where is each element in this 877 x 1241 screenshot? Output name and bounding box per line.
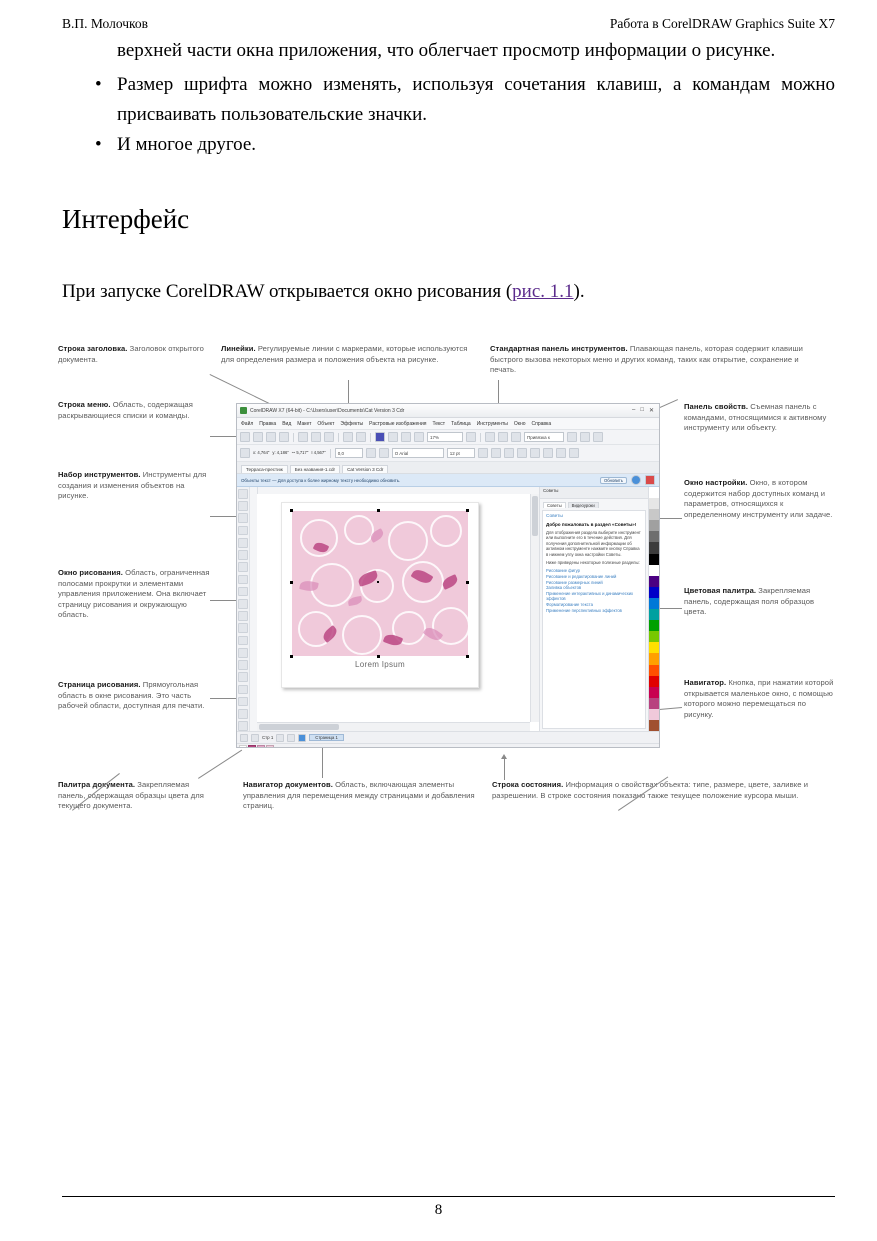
color-swatch[interactable] [649, 698, 659, 709]
docker-panel-title: Советы [546, 514, 642, 519]
document-color-swatch[interactable] [239, 745, 247, 749]
document-navigator: Стр 1 Страница 1 [237, 731, 659, 743]
annotation-title: Навигатор документов. [243, 780, 333, 789]
selection-handle[interactable] [466, 655, 469, 658]
snap-to-button[interactable]: Привязка к [524, 432, 564, 442]
text-properties-icon[interactable] [569, 448, 579, 458]
color-swatch[interactable] [649, 598, 659, 609]
show-guides-icon[interactable] [511, 432, 521, 442]
selection-handle[interactable] [290, 581, 293, 584]
color-swatch[interactable] [649, 554, 659, 565]
list-item-label: И многое другое. [117, 130, 835, 160]
maximize-icon[interactable]: □ [640, 407, 644, 414]
menu-item-view[interactable]: Вид [282, 421, 291, 427]
annotation-title: Палитра документа. [58, 780, 135, 789]
underline-icon[interactable] [504, 448, 514, 458]
body-column: верхней части окна приложения, что облег… [62, 36, 835, 307]
bold-icon[interactable] [478, 448, 488, 458]
add-page-icon[interactable] [298, 734, 306, 742]
bullet-list: • Размер шрифта можно изменять, использу… [62, 70, 835, 160]
annotation-document-navigator: Навигатор документов. Область, включающа… [243, 780, 475, 812]
undo-icon[interactable] [343, 432, 353, 442]
previous-page-icon[interactable] [251, 734, 259, 742]
crop-tool-icon[interactable] [238, 513, 248, 523]
docker-window: Советы Советы Видеоуроки Советы Добро по… [539, 487, 648, 731]
running-header: В.П. Молочков Работа в CorelDRAW Graphic… [62, 16, 835, 32]
color-palette[interactable] [648, 487, 659, 731]
selection-handle[interactable] [290, 509, 293, 512]
toolbar-separator [370, 433, 371, 442]
leader-line-status-bar [504, 758, 505, 780]
docker-heading: Добро пожаловать в раздел «Советы»! [546, 522, 642, 528]
connector-tool-icon[interactable] [238, 636, 248, 646]
align-justify-icon[interactable] [556, 448, 566, 458]
annotation-title: Панель свойств. [684, 402, 748, 411]
first-page-icon[interactable] [240, 734, 248, 742]
leader-line-document-palette [198, 750, 242, 779]
pick-tool-icon[interactable] [238, 489, 248, 499]
header-title: Работа в CorelDRAW Graphics Suite X7 [610, 16, 835, 32]
fill-tool-icon[interactable] [238, 721, 248, 731]
color-swatch[interactable] [649, 676, 659, 687]
menu-item-table[interactable]: Таблица [451, 421, 471, 427]
color-eyedropper-tool-icon[interactable] [238, 672, 248, 682]
figure-1-1: Строка заголовка. Заголовок открытого до… [58, 340, 838, 840]
list-item: • И многое другое. [117, 130, 835, 160]
annotation-color-palette: Цветовая палитра. Закрепляемая панель, с… [684, 586, 836, 618]
app-menu-bar: Файл Правка Вид Макет Объект Эффекты Рас… [237, 418, 659, 430]
object-position-x[interactable]: x: 4,764" [253, 450, 269, 455]
color-swatch[interactable] [649, 642, 659, 653]
page-number: 8 [0, 1202, 877, 1219]
object-height[interactable]: Ⅰ 4,567" [311, 450, 325, 455]
bullet-marker: • [95, 130, 102, 160]
intro-text-after: ). [574, 281, 585, 302]
header-author: В.П. Молочков [62, 16, 148, 32]
font-name-combo[interactable]: O Arial [392, 448, 444, 458]
polygon-tool-icon[interactable] [238, 587, 248, 597]
annotation-status-bar: Строка состояния. Информация о свойствах… [492, 780, 810, 801]
menu-item-layout[interactable]: Макет [297, 421, 311, 427]
bullet-marker: • [95, 70, 102, 100]
document-tab-bar: Терраса-престиж Без названия-1.cdr Cat V… [237, 462, 659, 474]
annotation-menu-bar: Строка меню. Область, содержащая раскрыв… [58, 400, 213, 421]
menu-item-file[interactable]: Файл [241, 421, 253, 427]
zoom-level-combo[interactable]: 17% [427, 432, 463, 442]
mirror-vertical-icon[interactable] [379, 448, 389, 458]
document-palette[interactable] [237, 743, 659, 748]
annotation-drawing-page: Страница рисования. Прямоугольная област… [58, 680, 210, 712]
annotation-title-bar: Строка заголовка. Заголовок открытого до… [58, 344, 208, 365]
toolbar-separator [480, 433, 481, 442]
list-item-label: Размер шрифта можно изменять, используя … [117, 70, 835, 130]
annotation-drawing-window: Окно рисования. Область, ограниченная по… [58, 568, 210, 621]
annotation-title: Линейки. [221, 344, 256, 353]
text-tool-icon[interactable] [238, 599, 248, 609]
canvas-area[interactable]: Lorem Ipsum [257, 494, 530, 722]
close-hint-icon[interactable] [645, 475, 655, 485]
align-left-icon[interactable] [517, 448, 527, 458]
annotation-rulers: Линейки. Регулируемые линии с маркерами,… [221, 344, 471, 365]
color-swatch[interactable] [649, 509, 659, 520]
continued-paragraph: верхней части окна приложения, что облег… [117, 36, 835, 66]
document-tab[interactable]: Без названия-1.cdr [290, 465, 340, 473]
export-icon[interactable] [388, 432, 398, 442]
info-icon[interactable] [631, 475, 641, 485]
annotation-title: Строка состояния. [492, 780, 563, 789]
coreldraw-logo-icon [240, 407, 247, 414]
toolbox [237, 487, 250, 731]
freehand-tool-icon[interactable] [238, 538, 248, 548]
standard-toolbar: 17% Привязка к [237, 430, 659, 445]
selection-handle[interactable] [377, 655, 380, 658]
open-icon[interactable] [253, 432, 263, 442]
color-swatch[interactable] [649, 720, 659, 731]
color-swatch[interactable] [649, 542, 659, 553]
annotation-navigator: Навигатор. Кнопка, при нажатии которой о… [684, 678, 834, 720]
import-icon[interactable] [375, 432, 385, 442]
launch-icon[interactable] [414, 432, 424, 442]
menu-item-object[interactable]: Объект [317, 421, 334, 427]
rotation-angle-input[interactable]: 0,0 [335, 448, 363, 458]
align-right-icon[interactable] [543, 448, 553, 458]
dimension-tool-icon[interactable] [238, 623, 248, 633]
ellipse-tool-icon[interactable] [238, 575, 248, 585]
annotation-text: Регулируемые линии с маркерами, которые … [221, 344, 467, 364]
zoom-tool-icon[interactable] [238, 526, 248, 536]
rectangle-tool-icon[interactable] [238, 562, 248, 572]
selection-handle[interactable] [466, 581, 469, 584]
copy-icon[interactable] [311, 432, 321, 442]
hint-text: Объекты текст — Для доступа к более жирн… [241, 478, 400, 483]
color-swatch[interactable] [649, 609, 659, 620]
menu-item-window[interactable]: Окно [514, 421, 526, 427]
document-color-swatch[interactable] [257, 745, 265, 749]
menu-item-tools[interactable]: Инструменты [477, 421, 508, 427]
cut-icon[interactable] [298, 432, 308, 442]
menu-item-bitmaps[interactable]: Растровые изображения [369, 421, 426, 427]
document-tab[interactable]: Cat Version 3 Cdr [342, 465, 388, 473]
color-swatch[interactable] [649, 709, 659, 720]
menu-item-text[interactable]: Текст [433, 421, 446, 427]
smart-fill-tool-icon[interactable] [238, 697, 248, 707]
interactive-fill-tool-icon[interactable] [238, 685, 248, 695]
artwork-caption-text[interactable]: Lorem Ipsum [282, 660, 478, 669]
color-swatch[interactable] [649, 576, 659, 587]
annotation-toolbox: Набор инструментов. Инструменты для созд… [58, 470, 210, 502]
show-grid-icon[interactable] [498, 432, 508, 442]
color-swatch[interactable] [649, 665, 659, 676]
docker-title: Советы [540, 487, 648, 499]
color-swatch[interactable] [649, 520, 659, 531]
annotation-title: Цветовая палитра. [684, 586, 756, 595]
docker-tab-video-tutorials[interactable]: Видеоуроки [568, 502, 599, 508]
artistic-media-tool-icon[interactable] [238, 550, 248, 560]
annotation-title: Навигатор. [684, 678, 726, 687]
italic-icon[interactable] [491, 448, 501, 458]
color-swatch[interactable] [649, 631, 659, 642]
redo-icon[interactable] [356, 432, 366, 442]
close-icon[interactable]: ✕ [649, 407, 654, 414]
docker-content[interactable]: Советы Добро пожаловать в раздел «Советы… [542, 510, 646, 729]
annotation-docker-window: Окно настройки. Окно, в котором содержит… [684, 478, 836, 520]
publish-pdf-icon[interactable] [401, 432, 411, 442]
docker-link[interactable]: Применение перспективных эффектов [546, 608, 642, 614]
arrow-status-bar [501, 754, 507, 759]
selection-center-marker [377, 581, 379, 583]
figure-reference-link[interactable]: рис. 1.1 [512, 281, 573, 302]
annotation-standard-toolbar: Стандартная панель инструментов. Плавающ… [490, 344, 810, 376]
artwork-floral-pattern[interactable] [292, 511, 468, 656]
color-swatch[interactable] [649, 565, 659, 576]
work-area: Lorem Ipsum [237, 487, 659, 731]
toolbar-separator [338, 433, 339, 442]
blend-tool-icon[interactable] [238, 648, 248, 658]
outline-tool-icon[interactable] [238, 709, 248, 719]
zoom-levels-dropdown-icon[interactable] [466, 432, 476, 442]
application-launcher-icon[interactable] [580, 432, 590, 442]
print-icon[interactable] [279, 432, 289, 442]
save-icon[interactable] [266, 432, 276, 442]
annotation-title: Строка заголовка. [58, 344, 127, 353]
window-controls: – □ ✕ [632, 407, 656, 414]
color-swatch[interactable] [649, 687, 659, 698]
docker-paragraph-2: Ниже приведены некоторые полезные раздел… [546, 560, 642, 565]
vertical-scrollbar-thumb[interactable] [532, 496, 538, 536]
app-title-text: CorelDRAW X7 (64-bit) - C:\Users\user\Do… [250, 408, 632, 414]
page-indicator: Стр 1 [262, 735, 273, 740]
coreldraw-application-window: CorelDRAW X7 (64-bit) - C:\Users\user\Do… [236, 403, 660, 748]
selection-handle[interactable] [466, 509, 469, 512]
help-icon[interactable] [593, 432, 603, 442]
object-origin-icon[interactable] [240, 448, 250, 458]
property-separator [330, 449, 331, 458]
docker-paragraph: Для отображения раздела выберите инструм… [546, 530, 642, 557]
page-tab[interactable]: Страница 1 [309, 734, 343, 741]
menu-item-edit[interactable]: Правка [259, 421, 276, 427]
color-swatch[interactable] [649, 498, 659, 509]
menu-item-effects[interactable]: Эффекты [340, 421, 363, 427]
next-page-icon[interactable] [276, 734, 284, 742]
update-button[interactable]: Обновить [600, 477, 627, 484]
color-swatch[interactable] [649, 653, 659, 664]
document-color-swatch[interactable] [266, 745, 274, 749]
color-swatch[interactable] [649, 587, 659, 598]
new-document-icon[interactable] [240, 432, 250, 442]
hint-bar: Объекты текст — Для доступа к более жирн… [237, 474, 659, 487]
property-bar: x: 4,764" y: 4,186" ꟷ 5,717" Ⅰ 4,567" 0,… [237, 445, 659, 462]
mirror-horizontal-icon[interactable] [366, 448, 376, 458]
object-position-y[interactable]: y: 4,186" [272, 450, 288, 455]
fullscreen-preview-icon[interactable] [485, 432, 495, 442]
annotation-property-bar: Панель свойств. Съемная панель с команда… [684, 402, 834, 434]
paste-icon[interactable] [324, 432, 334, 442]
annotation-title: Строка меню. [58, 400, 111, 409]
docker-tab-tips[interactable]: Советы [543, 502, 566, 508]
drawing-window[interactable]: Lorem Ipsum [250, 487, 539, 731]
toolbar-separator [293, 433, 294, 442]
list-item: • Размер шрифта можно изменять, использу… [117, 70, 835, 130]
document-color-swatch[interactable] [248, 745, 256, 749]
font-size-combo[interactable]: 12 pt [447, 448, 475, 458]
document-tab[interactable]: Терраса-престиж [241, 465, 288, 473]
color-swatch[interactable] [649, 487, 659, 498]
document-page: В.П. Молочков Работа в CorelDRAW Graphic… [0, 0, 877, 1241]
selection-handle[interactable] [290, 655, 293, 658]
transparency-tool-icon[interactable] [238, 660, 248, 670]
annotation-title: Набор инструментов. [58, 470, 141, 479]
vertical-scrollbar[interactable] [530, 494, 539, 722]
object-width[interactable]: ꟷ 5,717" [292, 450, 309, 455]
color-swatch[interactable] [649, 531, 659, 542]
minimize-icon[interactable]: – [632, 407, 635, 414]
footer-rule [62, 1196, 835, 1197]
annotation-document-palette: Палитра документа. Закрепляемая панель, … [58, 780, 210, 812]
shape-tool-icon[interactable] [238, 501, 248, 511]
page-title: Интерфейс [62, 204, 835, 235]
docker-link[interactable]: Применение интерактивных и динамических … [546, 591, 642, 602]
annotation-title: Страница рисования. [58, 680, 141, 689]
annotation-title: Окно рисования. [58, 568, 123, 577]
color-swatch[interactable] [649, 620, 659, 631]
docker-tab-bar: Советы Видеоуроки [540, 499, 648, 508]
horizontal-scrollbar-thumb[interactable] [259, 724, 339, 730]
horizontal-scrollbar[interactable] [257, 722, 530, 731]
annotation-title: Стандартная панель инструментов. [490, 344, 628, 353]
last-page-icon[interactable] [287, 734, 295, 742]
options-icon[interactable] [567, 432, 577, 442]
align-center-icon[interactable] [530, 448, 540, 458]
intro-paragraph: При запуске CorelDRAW открывается окно р… [62, 277, 835, 307]
selection-handle[interactable] [377, 509, 380, 512]
annotation-title: Окно настройки. [684, 478, 747, 487]
table-tool-icon[interactable] [238, 611, 248, 621]
app-title-bar: CorelDRAW X7 (64-bit) - C:\Users\user\Do… [237, 404, 659, 418]
drawing-page[interactable]: Lorem Ipsum [281, 502, 479, 688]
menu-item-help[interactable]: Справка [532, 421, 552, 427]
intro-text-before: При запуске CorelDRAW открывается окно р… [62, 281, 512, 302]
